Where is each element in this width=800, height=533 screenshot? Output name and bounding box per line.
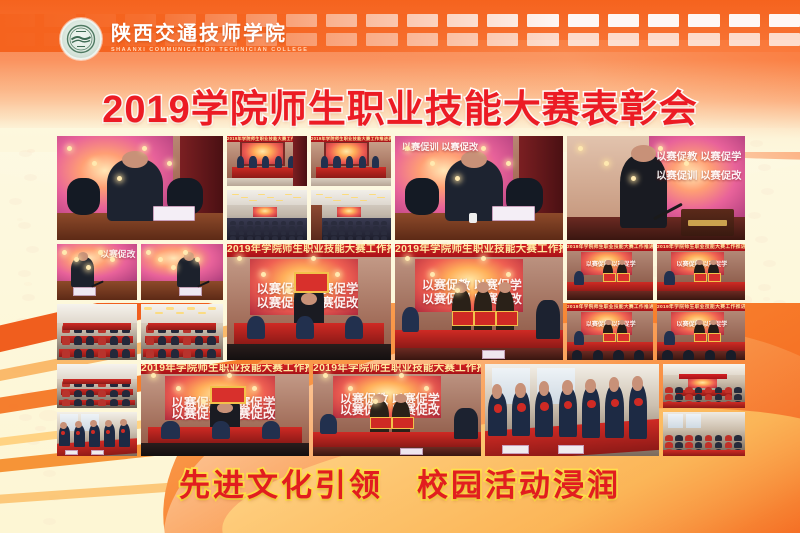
scene-award-certificate — [474, 311, 496, 326]
photo-audience-seated-right — [141, 304, 223, 360]
scene-bokeh-light — [631, 176, 636, 181]
scene-award-certificate — [694, 333, 707, 342]
scene-stage-slogan-2: 以赛促训 以赛促改 — [656, 167, 741, 182]
scene-ceiling-light — [377, 197, 384, 199]
scene-stage-front — [141, 443, 309, 456]
photo-award-pair-bottom-left: 2019年学院师生职业技能大赛工作推进表彰会以赛促教 以赛促学 — [567, 304, 653, 360]
scene-award-certificate — [603, 273, 616, 282]
scene-nameplate — [179, 287, 202, 296]
scene-cup — [469, 213, 477, 223]
scene-award-certificate — [617, 333, 630, 342]
scene-bokeh-light — [227, 373, 232, 378]
scene-ceiling-light — [351, 197, 358, 199]
photo-scene — [57, 304, 137, 360]
scene-caption-banner: 2019年学院师生职业技能大赛工作推进表彰会 — [311, 136, 391, 142]
scene-bokeh-light — [237, 256, 242, 261]
scene-nameplate — [492, 206, 534, 222]
scene-bokeh-light — [311, 256, 316, 261]
scene-nameplate — [482, 350, 504, 359]
scene-front-desk — [663, 402, 745, 408]
photo-award-pair-bottom-right: 2019年学院师生职业技能大赛工作推进表彰会以赛促教 以赛促学 — [657, 304, 745, 360]
scene-award-certificate — [392, 417, 414, 429]
scene-bokeh-light — [506, 161, 511, 166]
scene-ceiling-light — [241, 197, 248, 199]
scene-ceiling-light — [258, 194, 265, 196]
scene-nameplate — [65, 450, 78, 456]
scene-ceiling-light — [360, 200, 367, 202]
scene-caption-banner: 2019年学院师生职业技能大赛工作推进表彰会 — [141, 364, 309, 374]
scene-bokeh-light — [62, 250, 67, 255]
scene-ceiling-light — [369, 194, 376, 196]
scene-nameplate — [558, 445, 584, 454]
photo-scene: 2019年学院师生职业技能大赛工作推进表彰会以赛促教 以赛促学 — [657, 244, 745, 300]
photo-collage: 2019年学院师生职业技能大赛工作推进表彰会2019年学院师生职业技能大赛工作推… — [57, 136, 745, 456]
photo-scene — [485, 364, 659, 456]
scene-side-wall — [311, 205, 322, 240]
school-seal-icon — [60, 18, 102, 60]
scene-nameplate — [502, 445, 528, 454]
scene-ceiling-light — [198, 312, 206, 314]
scene-award-certificate — [496, 311, 518, 326]
scene-ceiling-light — [267, 197, 274, 199]
scene-rosette — [494, 404, 503, 412]
scene-bokeh-light — [146, 250, 151, 255]
scene-award-certificate — [694, 273, 707, 282]
scene-caption-banner: 2019年学院师生职业技能大赛工作推进表彰会 — [313, 364, 481, 374]
scene-screen — [337, 207, 361, 217]
page-title: 2019学院师生职业技能大赛表彰会 — [0, 78, 800, 133]
scene-front-desk — [663, 450, 745, 456]
scene-award-certificate — [708, 333, 721, 342]
photo-scene: 2019年学院师生职业技能大赛工作推进表彰会以赛促教 以赛促学以赛促训 以赛促改 — [227, 244, 391, 360]
photo-award-pair-top-right: 2019年学院师生职业技能大赛工作推进表彰会以赛促教 以赛促学 — [657, 244, 745, 300]
photo-host-right — [141, 244, 223, 300]
scene-bokeh-light — [405, 256, 410, 261]
scene-stage-slogan: 以赛促训 以赛促改 — [402, 139, 478, 153]
scene-caption-banner: 2019年学院师生职业技能大赛工作推进表彰会 — [395, 244, 563, 257]
scene-stage-slogan: 以赛促改 — [100, 247, 135, 260]
school-name-cn: 陕西交通技师学院 — [111, 24, 308, 44]
scene-ceiling-light — [342, 194, 349, 196]
photo-audience-hall-left — [227, 190, 307, 240]
scene-ceiling-light — [333, 200, 340, 202]
scene-stage-front — [657, 291, 745, 300]
scene-bokeh-light — [424, 386, 429, 391]
photo-scene: 2019年学院师生职业技能大赛工作推进表彰会以赛促教 以赛促学以赛促训 以赛促改 — [313, 364, 481, 456]
photo-award-raised-certificate-2: 2019年学院师生职业技能大赛工作推进表彰会以赛促教 以赛促学以赛促训 以赛促改 — [141, 364, 309, 456]
photo-scene — [141, 244, 223, 300]
scene-bokeh-light — [481, 256, 486, 261]
photo-award-raised-certificate: 2019年学院师生职业技能大赛工作推进表彰会以赛促教 以赛促学以赛促训 以赛促改 — [227, 244, 391, 360]
photo-scene: 以赛促训 以赛促改 — [395, 136, 563, 240]
scene-curtain — [293, 136, 307, 186]
scene-stage-front — [313, 447, 481, 456]
scene-rosette — [634, 398, 643, 406]
scene-ceiling-light — [276, 200, 283, 202]
photo-leader-speaking-at-desk — [57, 136, 223, 240]
scene-rosette — [76, 431, 80, 435]
photo-scene — [141, 304, 223, 360]
photo-scene: 2019年学院师生职业技能大赛工作推进表彰会以赛促教 以赛促学 — [567, 304, 653, 360]
photo-audience-hall-right — [311, 190, 391, 240]
scene-caption-banner: 2019年学院师生职业技能大赛工作推进表彰会 — [227, 244, 391, 257]
scene-stage-front — [227, 344, 391, 360]
scene-award-certificate — [210, 386, 246, 404]
scene-upper-wall — [57, 364, 137, 379]
scene-ceiling-light — [316, 194, 323, 196]
scene-screen — [253, 207, 277, 217]
scene-bokeh-light — [167, 161, 172, 166]
scene-award-certificate — [370, 417, 392, 429]
scene-bokeh-light — [117, 176, 122, 181]
scene-bokeh-light — [92, 161, 97, 166]
scene-caption-banner: 2019年学院师生职业技能大赛工作推进表彰会 — [567, 244, 653, 251]
scene-caption-banner: 2019年学院师生职业技能大赛工作推进表彰会 — [657, 244, 745, 251]
scene-award-certificate — [452, 311, 474, 326]
photo-award-pair-top-left: 2019年学院师生职业技能大赛工作推进表彰会以赛促教 以赛促学 — [567, 244, 653, 300]
scene-window — [668, 414, 683, 428]
photo-audience-seated-left — [57, 304, 137, 360]
photo-scene: 以赛促教 以赛促学以赛促训 以赛促改 — [567, 136, 745, 240]
scene-head-table — [316, 167, 386, 178]
scene-ceiling-light — [144, 307, 152, 309]
scene-award-certificate — [708, 273, 721, 282]
photo-scene — [227, 190, 307, 240]
scene-ceiling-light — [325, 197, 332, 199]
scene-nameplate — [153, 206, 195, 222]
photo-scene: 2019年学院师生职业技能大赛工作推进表彰会以赛促教 以赛促学以赛促训 以赛促改 — [395, 244, 563, 360]
scene-ceiling-light — [155, 312, 163, 314]
scene-caption-banner: 2019年学院师生职业技能大赛工作推进表彰会 — [567, 304, 653, 311]
scene-stage-slogan-2: 以赛促训 以赛促改 — [340, 401, 440, 418]
scene-ceiling-light — [187, 307, 195, 309]
photo-host-left: 以赛促改 — [57, 244, 137, 300]
photo-audience-red-uniform — [663, 412, 745, 456]
photo-scene — [663, 364, 745, 408]
scene-ceiling-light — [208, 307, 216, 309]
scene-bokeh-light — [399, 373, 404, 378]
scene-bokeh-light — [171, 265, 176, 270]
photo-speaker-at-podium: 以赛促教 以赛促学以赛促训 以赛促改 — [567, 136, 745, 240]
scene-rosette — [517, 403, 526, 411]
scene-caption-banner: 2019年学院师生职业技能大赛工作推进表彰会 — [657, 304, 745, 311]
scene-upper-wall — [57, 304, 137, 323]
scene-desk-row — [63, 323, 130, 330]
photo-scene: 2019年学院师生职业技能大赛工作推进表彰会以赛促教 以赛促学 — [567, 244, 653, 300]
scene-floor — [311, 178, 391, 186]
photo-scene — [57, 412, 137, 456]
photo-scene: 2019年学院师生职业技能大赛工作推进表彰会 — [227, 136, 307, 186]
photo-scene — [311, 190, 391, 240]
scene-nameplate — [91, 450, 104, 456]
scene-stage-front — [395, 348, 563, 360]
scene-ceiling-light — [293, 197, 300, 199]
scene-screen — [688, 379, 718, 388]
scene-award-certificate — [294, 272, 329, 293]
scene-ceiling-light — [285, 194, 292, 196]
photo-hall-overview — [663, 364, 745, 408]
school-name-en: Shaanxi Communication Technician College — [111, 48, 308, 54]
photo-award-podium-certificate: 2019年学院师生职业技能大赛工作推进表彰会以赛促教 以赛促学以赛促训 以赛促改 — [313, 364, 481, 456]
scene-stage-front — [567, 291, 653, 300]
photo-award-group-three: 2019年学院师生职业技能大赛工作推进表彰会以赛促教 以赛促学以赛促训 以赛促改 — [395, 244, 563, 360]
photo-scene: 2019年学院师生职业技能大赛工作推进表彰会 — [311, 136, 391, 186]
photo-speaker-with-glasses: 以赛促训 以赛促改 — [395, 136, 563, 240]
scene-award-certificate — [603, 333, 616, 342]
scene-bokeh-light — [506, 272, 511, 277]
scene-ceiling-light — [176, 312, 184, 314]
photo-scene: 2019年学院师生职业技能大赛工作推进表彰会以赛促教 以赛促学以赛促训 以赛促改 — [141, 364, 309, 456]
photo-scene: 2019年学院师生职业技能大赛工作推进表彰会以赛促教 以赛促学 — [657, 304, 745, 360]
scene-award-certificate — [617, 273, 630, 282]
scene-nameplate — [73, 287, 96, 296]
scene-rosette — [106, 430, 110, 434]
photo-scene — [57, 364, 137, 408]
poster-root: 陕西交通技师学院 Shaanxi Communication Technicia… — [0, 0, 800, 533]
photo-stage-panel-wide: 2019年学院师生职业技能大赛工作推进表彰会 — [227, 136, 307, 186]
photo-scene: 以赛促改 — [57, 244, 137, 300]
scene-bokeh-light — [98, 250, 103, 255]
photo-scene — [57, 136, 223, 240]
photo-stage-panel-front: 2019年学院师生职业技能大赛工作推进表彰会 — [311, 136, 391, 186]
scene-rosette — [540, 402, 549, 410]
scene-stage-slogan-1: 以赛促教 以赛促学 — [656, 148, 741, 163]
scene-ceiling-light — [232, 194, 239, 196]
brand-lockup: 陕西交通技师学院 Shaanxi Communication Technicia… — [60, 18, 308, 60]
scene-podium-plate — [688, 220, 727, 226]
scene-bokeh-light — [252, 386, 257, 391]
scene-desk-row — [63, 379, 130, 385]
scene-window — [686, 414, 701, 428]
photo-students-uniform-row — [57, 412, 137, 456]
footer-slogan: 先进文化引领 校园活动浸润 — [0, 460, 800, 505]
scene-desk-row — [148, 323, 217, 330]
photo-uniform-students-front-row — [485, 364, 659, 456]
photo-scene — [663, 412, 745, 456]
brand-names: 陕西交通技师学院 Shaanxi Communication Technicia… — [111, 24, 308, 54]
photo-audience-applauding — [57, 364, 137, 408]
scene-ceiling-light — [249, 200, 256, 202]
scene-ceiling-light — [166, 307, 174, 309]
scene-bokeh-light — [183, 250, 188, 255]
scene-nameplate — [400, 448, 422, 456]
